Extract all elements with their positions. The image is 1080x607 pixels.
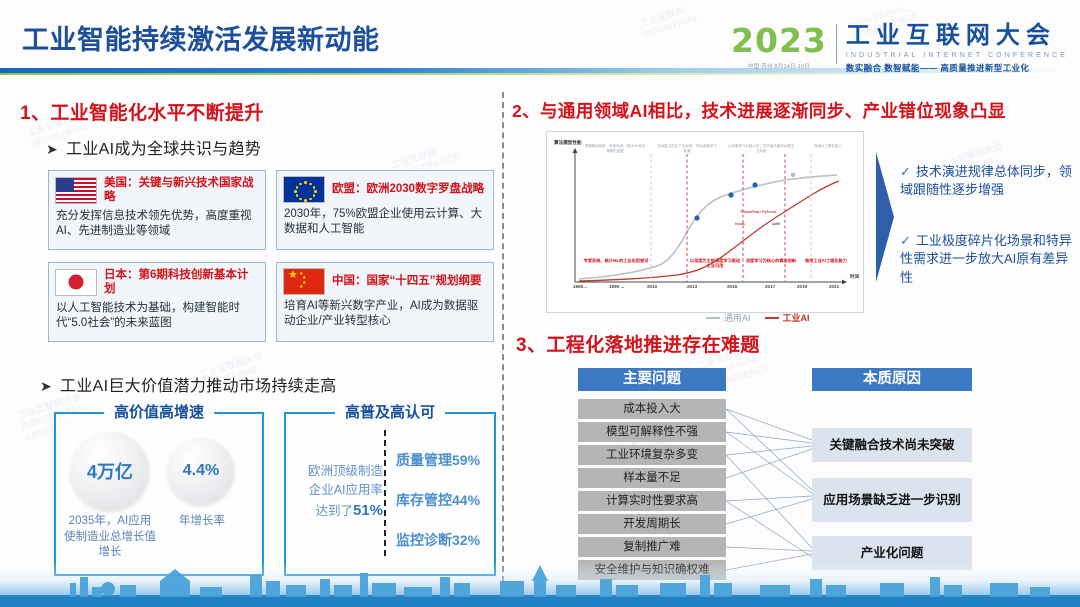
us-flag-icon	[55, 177, 97, 204]
check-icon: ✓	[900, 164, 911, 179]
chart-xtick-7: 2021	[829, 284, 839, 289]
logo-year: 2023	[731, 24, 827, 57]
card-body: 充分发挥信息技术领先优势，高度重视AI、先进制造业等领域	[49, 207, 265, 239]
card-title: 中国：国家“十四五”规划纲要	[332, 274, 482, 288]
subheading-market: ➤工业AI巨大价值潜力推动市场持续走高	[40, 372, 337, 396]
adoption-stat-2: 库存管控44%	[396, 490, 480, 510]
adoption-panel: 高普及高认可 欧洲顶级制造 企业AI应用率 达到了51% 质量管理59% 库存管…	[284, 412, 496, 576]
section-2-heading: 2、与通用领域AI相比，技术进展逐渐同步、产业错位现象凸显	[512, 98, 1006, 123]
problem-item[interactable]: 复制推广难	[578, 537, 726, 557]
chart-xtick-6: 2019	[797, 284, 807, 289]
cause-item[interactable]: 关键融合技术尚未突破	[812, 428, 972, 462]
ai-progress-chart: 算法模型性能	[546, 131, 864, 313]
chart-xtick-4: 2015	[727, 284, 737, 289]
problem-item[interactable]: 成本投入大	[578, 399, 726, 419]
chart-bottom-note-2: 以深度为主的深度学习驱动工业可用	[689, 258, 741, 269]
value-bubble-1-caption: 2035年，AI应用使制造业总增长值增长	[64, 514, 156, 561]
skyline-graphic	[0, 561, 1080, 607]
logo-tagline: 数实融合 数智赋能—— 高质量推进新型工业化	[846, 62, 1068, 74]
value-panel: 高价值高增速 4万亿 4.4% 2035年，AI应用使制造业总增长值增长 年增长…	[54, 412, 264, 576]
problem-item[interactable]: 计算实时性要求高	[578, 491, 726, 511]
chart-bottom-note-3: 深度学习为核心的算法创新	[745, 258, 797, 263]
chart-framework-1: TensorFlow / PyTorch	[723, 210, 793, 215]
legend-item-industrial-ai: 工业AI	[765, 311, 810, 324]
legend-swatch-red	[765, 317, 779, 319]
chart-bottom-note-1: 专家系统、统计ML的工业应用尝试	[583, 258, 649, 263]
chevron-right-icon: ➤	[46, 141, 58, 157]
problem-item[interactable]: 开发周期长	[578, 514, 726, 534]
cn-flag-icon: ★ ★ ★ ★ ★	[283, 268, 325, 295]
country-card-jp: 日本：第6期科技创新基本计划 以人工智能技术为基础，构建智能时代“5.0社会”的…	[48, 262, 266, 342]
right-bullet-1: ✓技术演进规律总体同步，领域跟随性逐步增强	[900, 163, 1075, 200]
page-title: 工业智能持续激活发展新动能	[22, 18, 380, 57]
check-icon: ✓	[900, 233, 911, 248]
chart-xtick-1: 1990 ...	[609, 284, 624, 289]
value-bubble-2: 4.4%	[168, 438, 234, 504]
adoption-stat-1: 质量管理59%	[396, 450, 480, 470]
chart-bottom-note-4: 商用工业AI工程化能力	[801, 258, 851, 263]
logo-year-subtitle: 中国·苏州 8月14日-16日	[731, 62, 827, 70]
section-3-heading: 3、工程化落地推进存在难题	[516, 330, 760, 357]
chevron-right-icon: ➤	[40, 378, 52, 394]
logo-chinese-name: 工业互联网大会	[846, 24, 1068, 48]
card-body: 培育AI等新兴数字产业，AI成为数据驱动企业/产业转型核心	[277, 297, 493, 329]
card-title: 日本：第6期科技创新基本计划	[104, 268, 259, 297]
slide-root: 工业互联网大会 INDUSTRIAL 工业互联网大会 INDUSTRIAL CO…	[0, 0, 1080, 607]
value-panel-title: 高价值高增速	[104, 401, 214, 422]
problem-item[interactable]: 工业环境复杂多变	[578, 445, 726, 465]
legend-item-general-ai: 通用AI	[706, 311, 751, 324]
card-title: 美国：关键与新兴技术国家战略	[104, 176, 259, 205]
adoption-stat-3: 监控诊断32%	[396, 530, 480, 550]
problem-item[interactable]: 样本量不足	[578, 468, 726, 488]
flow-col2-header: 本质原因	[812, 368, 972, 391]
chart-legend: 通用AI 工业AI	[706, 311, 810, 324]
value-bubble-2-caption: 年增长率	[164, 514, 240, 530]
card-body: 以人工智能技术为基础，构建智能时代“5.0社会”的未来蓝图	[49, 299, 265, 331]
right-bullet-2: ✓工业极度碎片化场景和特异性需求进一步放大AI原有差异性	[900, 232, 1075, 287]
country-card-us: 美国：关键与新兴技术国家战略 充分发挥信息技术领先优势，高度重视AI、先进制造业…	[48, 170, 266, 250]
card-body: 2030年，75%欧盟企业使用云计算、大数据和人工智能	[277, 205, 493, 237]
section-1-heading: 1、工业智能化水平不断提升	[20, 98, 264, 125]
legend-swatch-gray	[706, 317, 720, 319]
chart-top-note-1: 早期神经网络、专家系统、统计ML较为零散的进展	[583, 144, 647, 153]
flow-col1-header: 主要问题	[578, 368, 726, 391]
panel-dashed-divider	[384, 430, 386, 556]
eu-flag-icon	[283, 176, 325, 203]
country-card-cn: ★ ★ ★ ★ ★ 中国：国家“十四五”规划纲要 培育AI等新兴数字产业，AI成…	[276, 262, 494, 342]
conference-logo: 2023 中国·苏州 8月14日-16日 工业互联网大会 INDUSTRIAL …	[731, 24, 1068, 74]
slide-header: 工业智能持续激活发展新动能 2023 中国·苏州 8月14日-16日 工业互联网…	[0, 0, 1080, 84]
card-header: 美国：关键与新兴技术国家战略	[49, 171, 265, 207]
chart-top-note-3: 以深度学习为核心的二次升级与新的AI算法力突破	[727, 144, 795, 153]
chart-top-note-4: 商用AI工程化能力	[801, 144, 855, 149]
value-bubble-1: 4万亿	[71, 432, 149, 510]
subheading-consensus: ➤工业AI成为全球共识与趋势	[46, 135, 261, 159]
chart-xlabel: 时间	[850, 274, 859, 280]
country-card-eu: 欧盟：欧洲2030数字罗盘战略 2030年，75%欧盟企业使用云计算、大数据和人…	[276, 170, 494, 250]
logo-divider	[836, 24, 837, 64]
chart-xtick-5: 2017	[765, 284, 775, 289]
card-header: 日本：第6期科技创新基本计划	[49, 263, 265, 299]
cause-item[interactable]: 应用场景缺乏进一步识别	[812, 478, 972, 522]
problem-item[interactable]: 模型可解释性不强	[578, 422, 726, 442]
chart-xtick-3: 2013	[687, 284, 697, 289]
wedge-arrow-icon	[876, 152, 894, 282]
card-header: 欧盟：欧洲2030数字罗盘战略	[277, 171, 493, 205]
card-header: ★ ★ ★ ★ ★ 中国：国家“十四五”规划纲要	[277, 263, 493, 297]
chart-xtick-0: 1960...	[573, 284, 587, 289]
adoption-panel-title: 高普及高认可	[335, 401, 445, 422]
chart-framework-2: Keras	[723, 222, 757, 227]
chart-top-note-2: 技术能力的生产业实用、开启深度学习浪潮	[657, 144, 717, 153]
column-divider	[502, 92, 504, 582]
jp-flag-icon	[55, 269, 97, 296]
adoption-left-stat: 欧洲顶级制造 企业AI应用率 达到了51%	[278, 462, 383, 522]
chart-framework-3: Caffe	[759, 222, 793, 227]
chart-svg	[547, 132, 865, 314]
card-title: 欧盟：欧洲2030数字罗盘战略	[332, 182, 484, 196]
logo-english-name: INDUSTRIAL INTERNET CONFERENCE	[846, 52, 1068, 59]
chart-xtick-2: 2010	[647, 284, 657, 289]
